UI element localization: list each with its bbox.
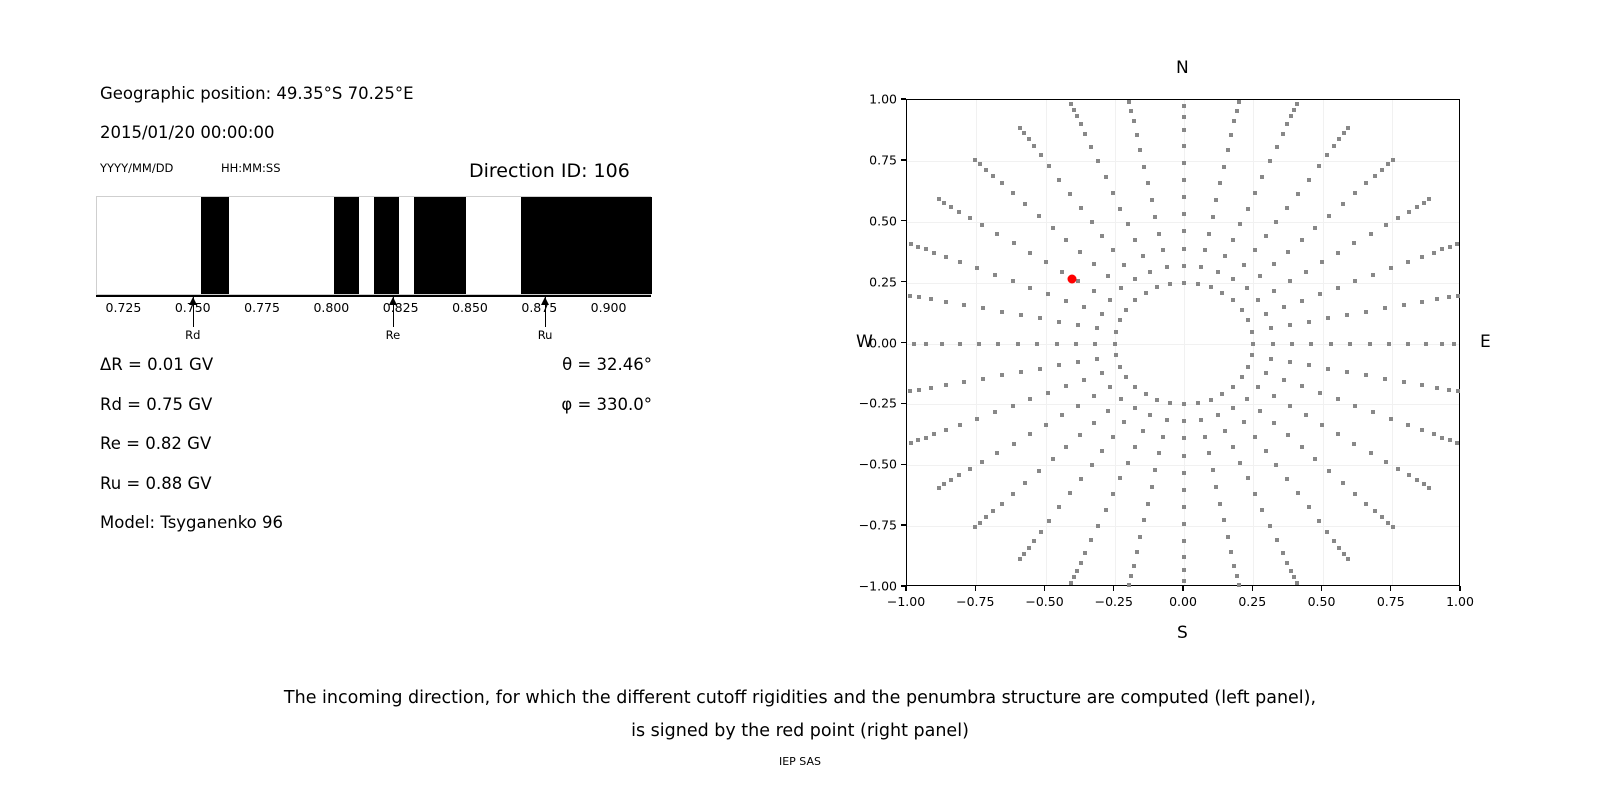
y-axis-tick-label: −0.75	[859, 518, 897, 533]
x-axis-tick-label: 0.00	[1169, 594, 1197, 609]
penumbra-band-forbidden	[334, 197, 359, 294]
direction-point	[916, 438, 920, 442]
direction-point	[1075, 114, 1079, 118]
direction-point	[1440, 247, 1444, 251]
rigidity-marker-arrow-re	[393, 297, 394, 327]
grid-line-horizontal	[907, 526, 1459, 527]
direction-point	[1047, 164, 1051, 168]
direction-point	[1250, 330, 1254, 334]
credit-label: IEP SAS	[0, 755, 1600, 768]
direction-point	[1242, 420, 1246, 424]
direction-point	[1288, 360, 1292, 364]
direction-point	[1384, 460, 1388, 464]
direction-point	[1309, 342, 1313, 346]
direction-point	[1268, 159, 1272, 163]
direction-point	[917, 295, 921, 299]
direction-point	[1199, 265, 1203, 269]
direction-point	[1440, 342, 1444, 346]
direction-point	[993, 410, 997, 414]
direction-point	[944, 383, 948, 387]
direction-point	[1353, 279, 1357, 283]
direction-point	[1325, 530, 1329, 534]
direction-point	[995, 232, 999, 236]
direction-point	[1369, 232, 1373, 236]
direction-point	[1406, 423, 1410, 427]
direction-point	[1096, 159, 1100, 163]
direction-point	[1226, 535, 1230, 539]
direction-point	[1046, 391, 1050, 395]
direction-point	[1203, 248, 1207, 252]
direction-point	[1018, 557, 1022, 561]
direction-point	[1182, 161, 1186, 165]
direction-point	[1111, 492, 1115, 496]
direction-point	[1209, 285, 1213, 289]
grid-line-vertical	[1046, 100, 1047, 585]
direction-point	[924, 342, 928, 346]
direction-point	[995, 451, 999, 455]
direction-point	[1237, 583, 1241, 587]
direction-point	[1000, 181, 1004, 185]
direction-point	[1012, 241, 1016, 245]
direction-point	[1211, 468, 1215, 472]
direction-point	[1106, 409, 1110, 413]
direction-point	[1253, 492, 1257, 496]
direction-point	[1389, 266, 1393, 270]
direction-point	[1127, 583, 1131, 587]
direction-point	[973, 525, 977, 529]
y-axis-tick-mark	[901, 281, 906, 282]
direction-point	[1118, 207, 1122, 211]
direction-point	[909, 242, 913, 246]
direction-point	[1150, 198, 1154, 202]
direction-point	[1126, 461, 1130, 465]
direction-point	[1246, 476, 1250, 480]
direction-point	[1253, 191, 1257, 195]
direction-point	[957, 210, 961, 214]
direction-point	[1435, 386, 1439, 390]
direction-point	[1282, 378, 1286, 382]
direction-point	[1286, 250, 1290, 254]
direction-point	[1329, 342, 1333, 346]
direction-point	[1064, 238, 1068, 242]
direction-point	[1209, 398, 1213, 402]
direction-point	[1237, 100, 1241, 104]
date-format-hint: YYYY/MM/DD	[100, 161, 173, 175]
direction-point	[1068, 192, 1072, 196]
direction-point	[977, 342, 981, 346]
direction-point	[1285, 477, 1289, 481]
direction-point	[1113, 342, 1117, 346]
direction-point	[968, 467, 972, 471]
y-axis-tick-mark	[901, 220, 906, 221]
grid-line-horizontal	[907, 465, 1459, 466]
direction-point	[1342, 552, 1346, 556]
direction-point	[1289, 569, 1293, 573]
direction-point	[1264, 449, 1268, 453]
direction-point	[1028, 251, 1032, 255]
angle-item: φ = 330.0°	[470, 395, 652, 414]
direction-point	[1126, 222, 1130, 226]
direction-point	[1111, 191, 1115, 195]
direction-point	[1455, 242, 1459, 246]
direction-point	[1274, 220, 1278, 224]
direction-point	[1072, 108, 1076, 112]
x-axis-tick-label: −0.75	[956, 594, 994, 609]
direction-point	[1069, 581, 1073, 585]
direction-point	[1285, 206, 1289, 210]
rigidity-marker-label-re: Re	[386, 328, 401, 342]
direction-point	[1326, 367, 1330, 371]
direction-point	[924, 247, 928, 251]
direction-point	[1082, 305, 1086, 309]
direction-point	[1223, 254, 1227, 258]
selected-direction-point	[1067, 274, 1076, 283]
x-axis-tick-mark	[1459, 586, 1460, 591]
y-axis-tick-label: 0.50	[869, 213, 897, 228]
direction-point	[1119, 397, 1123, 401]
direction-point	[1337, 546, 1341, 550]
direction-point	[1346, 557, 1350, 561]
direction-point	[1226, 148, 1230, 152]
x-axis-tick-label: 0.50	[1308, 594, 1336, 609]
direction-point	[1307, 363, 1311, 367]
direction-point	[1341, 202, 1345, 206]
direction-point	[1182, 539, 1186, 543]
direction-point	[940, 342, 944, 346]
datetime-label: 2015/01/20 00:00:00	[100, 123, 274, 142]
direction-point	[1285, 122, 1289, 126]
direction-point	[1182, 128, 1186, 132]
direction-point	[1019, 313, 1023, 317]
rigidity-marker-arrow-rd	[193, 297, 194, 327]
y-axis-tick-label: 0.25	[869, 274, 897, 289]
direction-point	[1044, 260, 1048, 264]
direction-point	[1387, 342, 1391, 346]
direction-point	[1038, 367, 1042, 371]
direction-point	[1051, 457, 1055, 461]
direction-point	[1232, 564, 1236, 568]
direction-point	[1095, 357, 1099, 361]
direction-point	[1075, 569, 1079, 573]
direction-point	[1079, 561, 1083, 565]
direction-point	[1037, 469, 1041, 473]
direction-point	[1223, 429, 1227, 433]
direction-point	[1251, 342, 1255, 346]
y-axis-tick-label: 1.00	[869, 92, 897, 107]
direction-point	[1182, 229, 1186, 233]
direction-point	[1114, 353, 1118, 357]
direction-point	[958, 342, 962, 346]
penumbra-tick-label: 0.875	[521, 300, 557, 315]
direction-point	[1245, 397, 1249, 401]
direction-point	[1076, 360, 1080, 364]
direction-point	[1111, 435, 1115, 439]
direction-point	[978, 162, 982, 166]
direction-point	[1352, 241, 1356, 245]
direction-point	[1235, 109, 1239, 113]
direction-point	[1078, 433, 1082, 437]
direction-point	[1182, 195, 1186, 199]
direction-point	[1047, 519, 1051, 523]
direction-point	[1182, 471, 1186, 475]
direction-point	[1364, 181, 1368, 185]
x-axis-tick-label: −0.25	[1095, 594, 1133, 609]
penumbra-bar-background	[96, 196, 651, 295]
direction-point	[1288, 279, 1292, 283]
direction-point	[1231, 238, 1235, 242]
direction-point	[962, 380, 966, 384]
direction-point	[1124, 375, 1128, 379]
direction-point	[1153, 215, 1157, 219]
direction-point	[1044, 423, 1048, 427]
direction-point	[1327, 469, 1331, 473]
direction-point	[1406, 260, 1410, 264]
direction-point	[1182, 555, 1186, 559]
direction-point	[1272, 262, 1276, 266]
direction-point	[1300, 299, 1304, 303]
grid-line-horizontal	[907, 344, 1459, 345]
direction-point	[1119, 286, 1123, 290]
x-axis-tick-mark	[1321, 586, 1322, 591]
direction-point	[1285, 561, 1289, 565]
direction-point	[1420, 255, 1424, 259]
figure-caption: The incoming direction, for which the di…	[0, 682, 1600, 748]
direction-point	[1051, 226, 1055, 230]
direction-point	[1046, 292, 1050, 296]
direction-point	[1000, 502, 1004, 506]
direction-point	[1296, 491, 1300, 495]
direction-point	[1100, 312, 1104, 316]
direction-point	[932, 251, 936, 255]
direction-point	[1133, 445, 1137, 449]
direction-point	[1100, 449, 1104, 453]
direction-point	[1096, 524, 1100, 528]
direction-point	[1396, 216, 1400, 220]
direction-point	[1076, 323, 1080, 327]
direction-point	[1407, 473, 1411, 477]
direction-point	[1371, 273, 1375, 277]
direction-point	[1095, 326, 1099, 330]
direction-point	[1076, 404, 1080, 408]
direction-point	[1391, 525, 1395, 529]
direction-point	[1336, 397, 1340, 401]
direction-point	[1100, 234, 1104, 238]
x-axis-tick-mark	[1113, 586, 1114, 591]
direction-point	[937, 486, 941, 490]
angle-item: θ = 32.46°	[470, 355, 652, 374]
x-axis-tick-mark	[1044, 586, 1045, 591]
direction-point	[1383, 377, 1387, 381]
direction-point	[1264, 234, 1268, 238]
grid-line-vertical	[1392, 100, 1393, 585]
direction-point	[1074, 342, 1078, 346]
x-axis-tick-label: 1.00	[1446, 594, 1474, 609]
y-axis-tick-label: −0.50	[859, 457, 897, 472]
direction-point	[1415, 478, 1419, 482]
compass-label-north: N	[1176, 58, 1189, 78]
direction-point	[984, 515, 988, 519]
direction-point	[1407, 210, 1411, 214]
direction-point	[1440, 436, 1444, 440]
direction-point	[1246, 318, 1250, 322]
direction-point	[917, 388, 921, 392]
direction-point	[1313, 457, 1317, 461]
direction-point	[937, 197, 941, 201]
direction-point	[1182, 522, 1186, 526]
direction-point	[1246, 365, 1250, 369]
direction-point	[1296, 192, 1300, 196]
direction-point	[1142, 518, 1146, 522]
direction-point	[1231, 277, 1235, 281]
direction-point	[1011, 404, 1015, 408]
direction-point	[1035, 342, 1039, 346]
direction-point	[1373, 174, 1377, 178]
direction-point	[1282, 305, 1286, 309]
direction-point	[1232, 119, 1236, 123]
direction-point	[1011, 279, 1015, 283]
direction-point	[1023, 202, 1027, 206]
direction-point	[1353, 404, 1357, 408]
direction-point	[1138, 535, 1142, 539]
compass-label-west: W	[856, 332, 873, 352]
direction-point	[1168, 282, 1172, 286]
direction-point	[1240, 308, 1244, 312]
y-axis-tick-label: 0.00	[869, 335, 897, 350]
direction-point	[1142, 165, 1146, 169]
direction-point	[962, 303, 966, 307]
grid-line-horizontal	[907, 222, 1459, 223]
direction-point	[1435, 297, 1439, 301]
direction-point	[1064, 299, 1068, 303]
direction-point	[981, 306, 985, 310]
direction-point	[1295, 581, 1299, 585]
direction-point	[1028, 432, 1032, 436]
direction-point	[957, 473, 961, 477]
direction-point	[1155, 285, 1159, 289]
direction-point	[1018, 126, 1022, 130]
parameter-item: ΔR = 0.01 GV	[100, 355, 213, 374]
direction-point	[1253, 435, 1257, 439]
direction-point	[1307, 320, 1311, 324]
direction-point	[1022, 131, 1026, 135]
direction-point	[1229, 550, 1233, 554]
direction-point	[1268, 524, 1272, 528]
direction-point	[1216, 413, 1220, 417]
direction-point	[1456, 389, 1460, 393]
direction-id-label: Direction ID: 106	[469, 160, 630, 182]
penumbra-tick-label: 0.850	[452, 300, 488, 315]
direction-point	[1346, 126, 1350, 130]
direction-point	[1402, 303, 1406, 307]
y-axis-tick-label: −1.00	[859, 579, 897, 594]
penumbra-axis-line	[96, 295, 651, 297]
direction-point	[1336, 286, 1340, 290]
x-axis-tick-label: 0.25	[1238, 594, 1266, 609]
direction-point	[1396, 467, 1400, 471]
direction-point	[1000, 373, 1004, 377]
direction-point	[1182, 419, 1186, 423]
direction-point	[1032, 539, 1036, 543]
direction-point	[1402, 380, 1406, 384]
direction-point	[1104, 175, 1108, 179]
direction-point	[1222, 518, 1226, 522]
direction-point	[1258, 409, 1262, 413]
penumbra-bar-chart	[96, 196, 651, 295]
direction-point	[1422, 201, 1426, 205]
direction-point	[1275, 145, 1279, 149]
direction-point	[1133, 238, 1137, 242]
direction-point	[1203, 435, 1207, 439]
direction-point	[1218, 181, 1222, 185]
direction-point	[1022, 552, 1026, 556]
direction-point	[1019, 370, 1023, 374]
compass-label-east: E	[1480, 332, 1491, 352]
direction-point	[1122, 263, 1126, 267]
direction-point	[1157, 451, 1161, 455]
penumbra-tick-label: 0.800	[313, 300, 349, 315]
direction-point	[1295, 102, 1299, 106]
direction-point	[1245, 286, 1249, 290]
direction-point	[1146, 502, 1150, 506]
direction-point	[978, 521, 982, 525]
direction-point	[1304, 270, 1308, 274]
direction-point	[1083, 132, 1087, 136]
time-format-hint: HH:MM:SS	[221, 161, 281, 175]
x-axis-tick-label: 0.75	[1377, 594, 1405, 609]
direction-point	[1307, 505, 1311, 509]
penumbra-tick-label: 0.725	[106, 300, 142, 315]
direction-point	[1027, 546, 1031, 550]
direction-point	[1092, 421, 1096, 425]
direction-point	[1104, 508, 1108, 512]
direction-point	[942, 482, 946, 486]
direction-point	[1231, 406, 1235, 410]
direction-point	[1383, 306, 1387, 310]
direction-point	[1432, 251, 1436, 255]
y-axis-tick-mark	[901, 98, 906, 99]
direction-point	[1448, 245, 1452, 249]
direction-point	[980, 460, 984, 464]
penumbra-band-forbidden	[374, 197, 399, 294]
direction-point	[1369, 451, 1373, 455]
direction-point	[1039, 153, 1043, 157]
x-axis-tick-mark	[975, 586, 976, 591]
parameter-item: Rd = 0.75 GV	[100, 395, 212, 414]
direction-point	[1027, 137, 1031, 141]
direction-point	[1238, 461, 1242, 465]
direction-point	[975, 417, 979, 421]
direction-point	[932, 432, 936, 436]
direction-point	[1288, 404, 1292, 408]
x-axis-tick-mark	[1252, 586, 1253, 591]
direction-point	[1055, 342, 1059, 346]
direction-point	[1092, 262, 1096, 266]
direction-point	[1132, 564, 1136, 568]
direction-point	[1427, 197, 1431, 201]
direction-point	[1456, 294, 1460, 298]
direction-point	[1089, 145, 1093, 149]
direction-point	[1090, 463, 1094, 467]
direction-point	[1455, 441, 1459, 445]
direction-point	[1060, 270, 1064, 274]
direction-point	[1079, 477, 1083, 481]
direction-point	[1076, 279, 1080, 283]
direction-point	[1216, 270, 1220, 274]
direction-point	[1108, 298, 1112, 302]
direction-point	[1222, 165, 1226, 169]
direction-point	[1060, 413, 1064, 417]
direction-point	[1032, 144, 1036, 148]
